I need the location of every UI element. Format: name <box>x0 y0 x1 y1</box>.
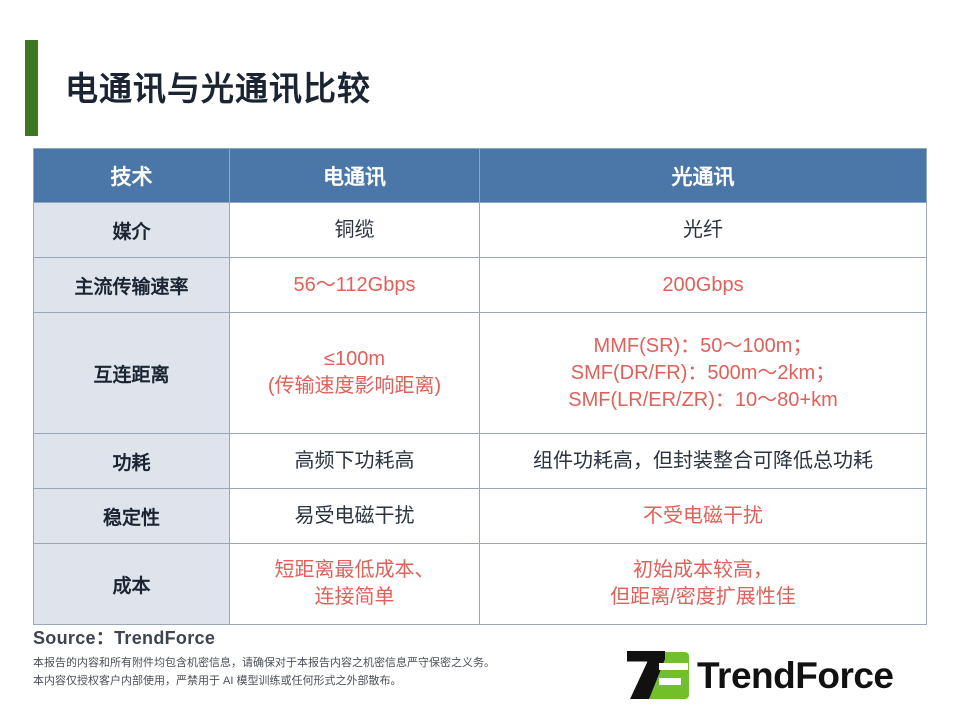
cell-power-optical: 组件功耗高，但封装整合可降低总功耗 <box>480 434 927 489</box>
source-label: Source：TrendForce <box>33 624 215 650</box>
column-header-technology: 技术 <box>34 149 230 203</box>
cell-cost-optical-line1: 初始成本较高， <box>486 557 920 584</box>
cell-cost-optical-line2: 但距离/密度扩展性佳 <box>486 584 920 611</box>
row-label-distance: 互连距离 <box>34 313 230 434</box>
disclaimer-text: 本报告的内容和所有附件均包含机密信息，请确保对于本报告内容之机密信息严守保密之义… <box>33 654 495 690</box>
disclaimer-line-1: 本报告的内容和所有附件均包含机密信息，请确保对于本报告内容之机密信息严守保密之义… <box>33 654 495 672</box>
table-row: 互连距离 ≤100m (传输速度影响距离) MMF(SR)：50～100m； S… <box>34 313 927 434</box>
cell-distance-electrical-line2: (传输速度影响距离) <box>236 373 473 400</box>
table-row: 功耗 高频下功耗高 组件功耗高，但封装整合可降低总功耗 <box>34 434 927 489</box>
cell-media-optical: 光纤 <box>480 203 927 258</box>
trendforce-logo-text: TrendForce <box>697 657 894 694</box>
cell-cost-electrical: 短距离最低成本、 连接简单 <box>230 544 480 625</box>
cell-stability-electrical: 易受电磁干扰 <box>230 489 480 544</box>
row-label-power: 功耗 <box>34 434 230 489</box>
column-header-optical: 光通讯 <box>480 149 927 203</box>
cell-cost-electrical-line2: 连接简单 <box>236 584 473 611</box>
cell-cost-optical: 初始成本较高， 但距离/密度扩展性佳 <box>480 544 927 625</box>
table-header-row: 技术 电通讯 光通讯 <box>34 149 927 203</box>
cell-distance-optical-line3: SMF(LR/ER/ZR)：10～80+km <box>486 387 920 414</box>
table-row: 媒介 铜缆 光纤 <box>34 203 927 258</box>
cell-speed-electrical: 56～112Gbps <box>230 258 480 313</box>
cell-cost-electrical-line1: 短距离最低成本、 <box>236 557 473 584</box>
slide-title-block: 电通讯与光通讯比较 <box>25 40 371 136</box>
comparison-table: 技术 电通讯 光通讯 媒介 铜缆 光纤 主流传输速率 56～112Gbps 20… <box>33 148 927 625</box>
title-accent-bar <box>25 40 38 136</box>
row-label-speed: 主流传输速率 <box>34 258 230 313</box>
trendforce-logo: TrendForce <box>627 650 894 700</box>
row-label-stability: 稳定性 <box>34 489 230 544</box>
page-title: 电通讯与光通讯比较 <box>65 72 371 105</box>
table-row: 主流传输速率 56～112Gbps 200Gbps <box>34 258 927 313</box>
cell-distance-optical-line2: SMF(DR/FR)：500m～2km； <box>486 360 920 387</box>
table-row: 成本 短距离最低成本、 连接简单 初始成本较高， 但距离/密度扩展性佳 <box>34 544 927 625</box>
disclaimer-line-2: 本内容仅授权客户内部使用，严禁用于 AI 模型训练或任何形式之外部散布。 <box>33 672 495 690</box>
table-row: 稳定性 易受电磁干扰 不受电磁干扰 <box>34 489 927 544</box>
cell-distance-optical-line1: MMF(SR)：50～100m； <box>486 333 920 360</box>
column-header-electrical: 电通讯 <box>230 149 480 203</box>
cell-distance-optical: MMF(SR)：50～100m； SMF(DR/FR)：500m～2km； SM… <box>480 313 927 434</box>
cell-distance-electrical: ≤100m (传输速度影响距离) <box>230 313 480 434</box>
trendforce-logo-mark-icon <box>627 651 689 699</box>
cell-stability-optical: 不受电磁干扰 <box>480 489 927 544</box>
row-label-cost: 成本 <box>34 544 230 625</box>
row-label-media: 媒介 <box>34 203 230 258</box>
cell-distance-electrical-line1: ≤100m <box>236 346 473 373</box>
cell-media-electrical: 铜缆 <box>230 203 480 258</box>
cell-speed-optical: 200Gbps <box>480 258 927 313</box>
cell-power-electrical: 高频下功耗高 <box>230 434 480 489</box>
